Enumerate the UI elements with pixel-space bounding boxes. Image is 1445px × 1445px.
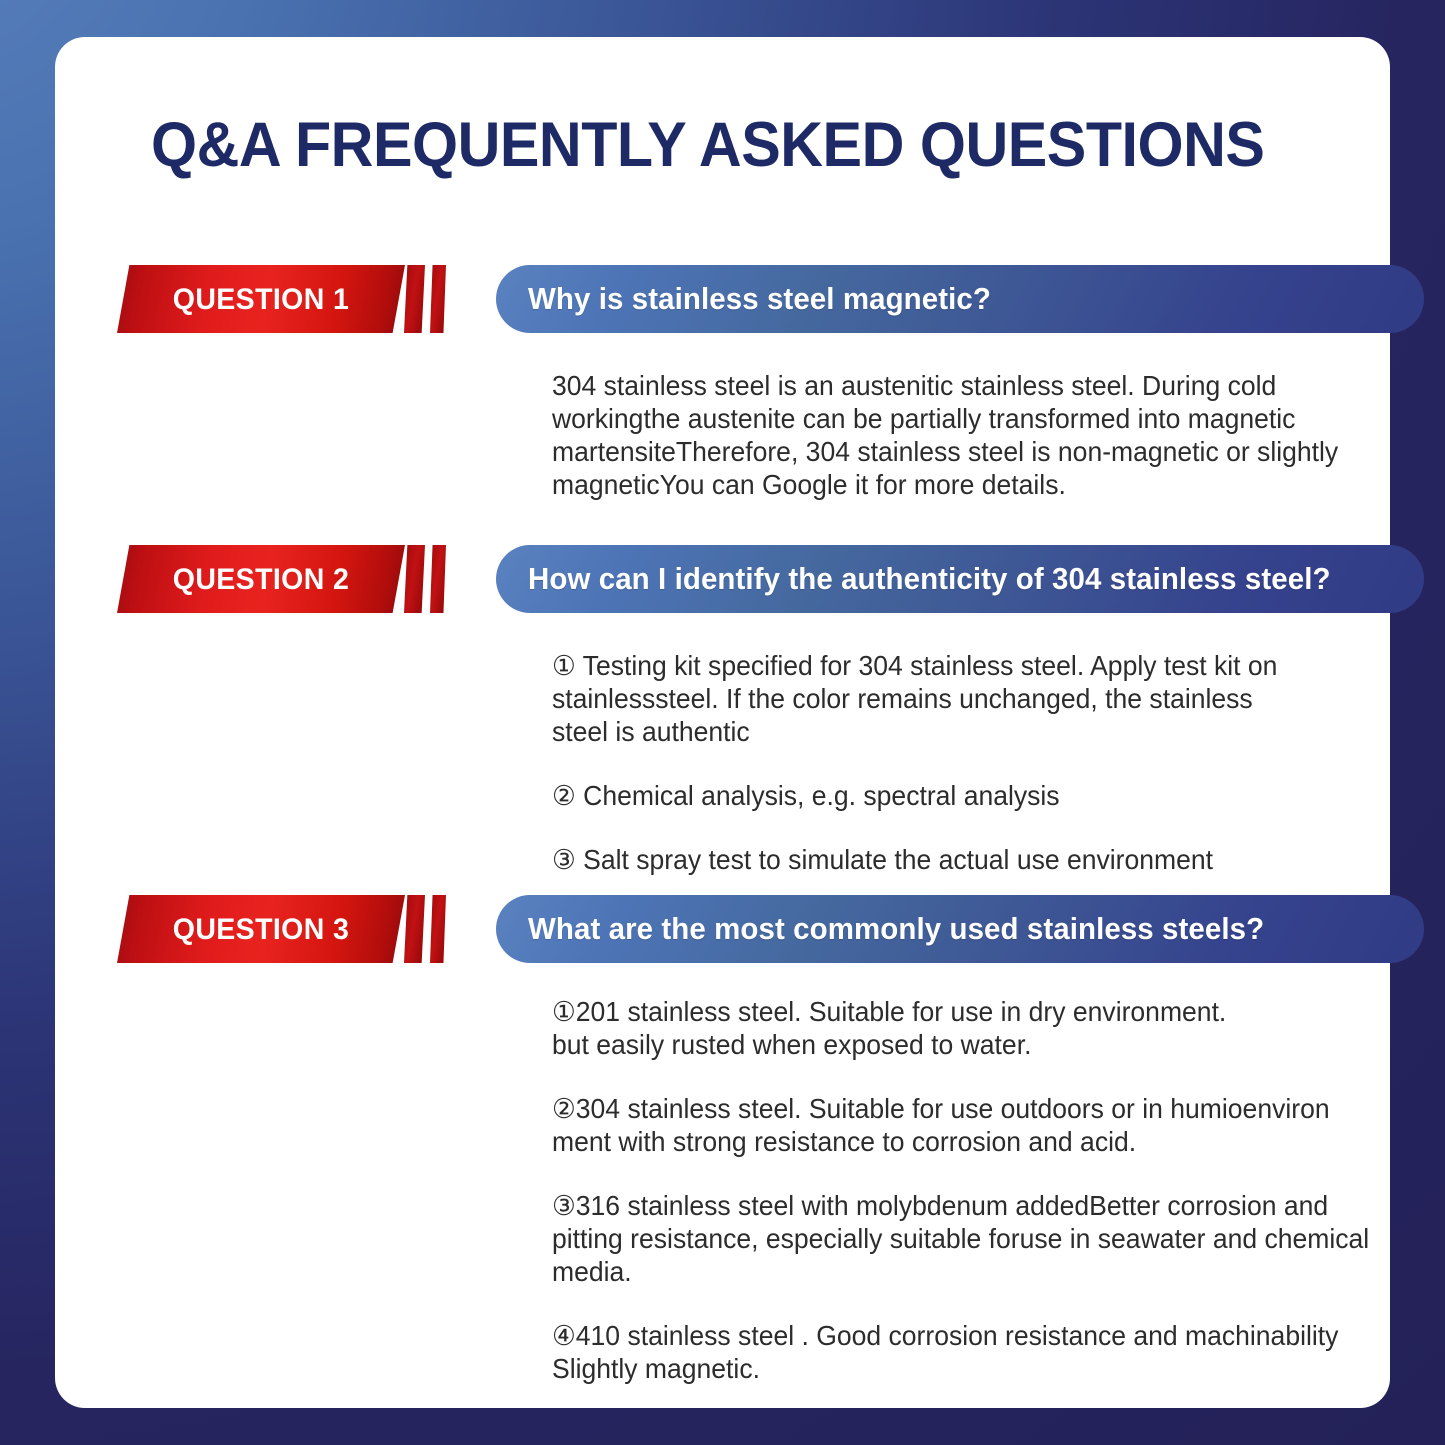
question-badge-2[interactable]: QUESTION 2 xyxy=(117,545,405,613)
answer-paragraph: ① Testing kit specified for 304 stainles… xyxy=(552,649,1411,748)
answer-line: workingthe austenite can be partially tr… xyxy=(552,402,1411,435)
question-pill-1[interactable]: Why is stainless steel magnetic? xyxy=(496,265,1424,333)
answer-line: ② Chemical analysis, e.g. spectral analy… xyxy=(552,779,1411,812)
page-title: Q&A FREQUENTLY ASKED QUESTIONS xyxy=(151,109,1279,181)
badge-separator-stripe-inner xyxy=(430,895,446,963)
answer-line: steel is authentic xyxy=(552,715,1411,748)
question-badge-label: QUESTION 3 xyxy=(124,913,398,947)
badge-separator-stripe-inner xyxy=(430,265,446,333)
faq-block-3: QUESTION 3 What are the most commonly us… xyxy=(55,895,1390,963)
answer-line: 304 stainless steel is an austenitic sta… xyxy=(552,369,1411,402)
answer-list-2: ① Testing kit specified for 304 stainles… xyxy=(552,649,1442,876)
question-text: What are the most commonly used stainles… xyxy=(528,910,1264,948)
answer-line: ①201 stainless steel. Suitable for use i… xyxy=(552,995,1411,1028)
question-badge-label: QUESTION 1 xyxy=(124,283,398,317)
answer-line: ③ Salt spray test to simulate the actual… xyxy=(552,843,1411,876)
answer-paragraph: ④410 stainless steel . Good corrosion re… xyxy=(552,1319,1411,1385)
question-text: Why is stainless steel magnetic? xyxy=(528,280,991,318)
faq-header-1: QUESTION 1 Why is stainless steel magnet… xyxy=(55,265,1390,333)
answer-list-3: ①201 stainless steel. Suitable for use i… xyxy=(552,995,1442,1385)
answer-line: ②304 stainless steel. Suitable for use o… xyxy=(552,1092,1411,1125)
answer-line: ment with strong resistance to corrosion… xyxy=(552,1125,1411,1158)
faq-card: Q&A FREQUENTLY ASKED QUESTIONS QUESTION … xyxy=(55,37,1390,1408)
answer-paragraph: ②304 stainless steel. Suitable for use o… xyxy=(552,1092,1411,1158)
answer-paragraph: ①201 stainless steel. Suitable for use i… xyxy=(552,995,1411,1061)
answer-line: pitting resistance, especially suitable … xyxy=(552,1222,1411,1255)
faq-block-2: QUESTION 2 How can I identify the authen… xyxy=(55,545,1390,613)
answer-line: martensiteTherefore, 304 stainless steel… xyxy=(552,435,1411,468)
answer-line: magneticYou can Google it for more detai… xyxy=(552,468,1411,501)
answer-line: ① Testing kit specified for 304 stainles… xyxy=(552,649,1411,682)
answer-paragraph: ② Chemical analysis, e.g. spectral analy… xyxy=(552,779,1411,812)
answer-paragraph: ③ Salt spray test to simulate the actual… xyxy=(552,843,1411,876)
answer-line: ④410 stainless steel . Good corrosion re… xyxy=(552,1319,1411,1352)
badge-separator-stripe-inner xyxy=(430,545,446,613)
answer-line: ③316 stainless steel with molybdenum add… xyxy=(552,1189,1411,1222)
answer-line: but easily rusted when exposed to water. xyxy=(552,1028,1411,1061)
badge-separator-stripe-outer xyxy=(404,895,425,963)
question-pill-2[interactable]: How can I identify the authenticity of 3… xyxy=(496,545,1424,613)
question-text: How can I identify the authenticity of 3… xyxy=(528,560,1331,598)
answer-line: stainlesssteel. If the color remains unc… xyxy=(552,682,1411,715)
question-badge-label: QUESTION 2 xyxy=(124,563,398,597)
answer-paragraph: ③316 stainless steel with molybdenum add… xyxy=(552,1189,1411,1288)
faq-header-3: QUESTION 3 What are the most commonly us… xyxy=(55,895,1390,963)
question-badge-1[interactable]: QUESTION 1 xyxy=(117,265,405,333)
question-pill-3[interactable]: What are the most commonly used stainles… xyxy=(496,895,1424,963)
faq-block-1: QUESTION 1 Why is stainless steel magnet… xyxy=(55,265,1390,333)
answer-paragraph: 304 stainless steel is an austenitic sta… xyxy=(552,369,1411,501)
answer-list-1: 304 stainless steel is an austenitic sta… xyxy=(552,369,1442,501)
answer-line: Slightly magnetic. xyxy=(552,1352,1411,1385)
answer-line: media. xyxy=(552,1255,1411,1288)
faq-header-2: QUESTION 2 How can I identify the authen… xyxy=(55,545,1390,613)
badge-separator-stripe-outer xyxy=(404,265,425,333)
badge-separator-stripe-outer xyxy=(404,545,425,613)
question-badge-3[interactable]: QUESTION 3 xyxy=(117,895,405,963)
